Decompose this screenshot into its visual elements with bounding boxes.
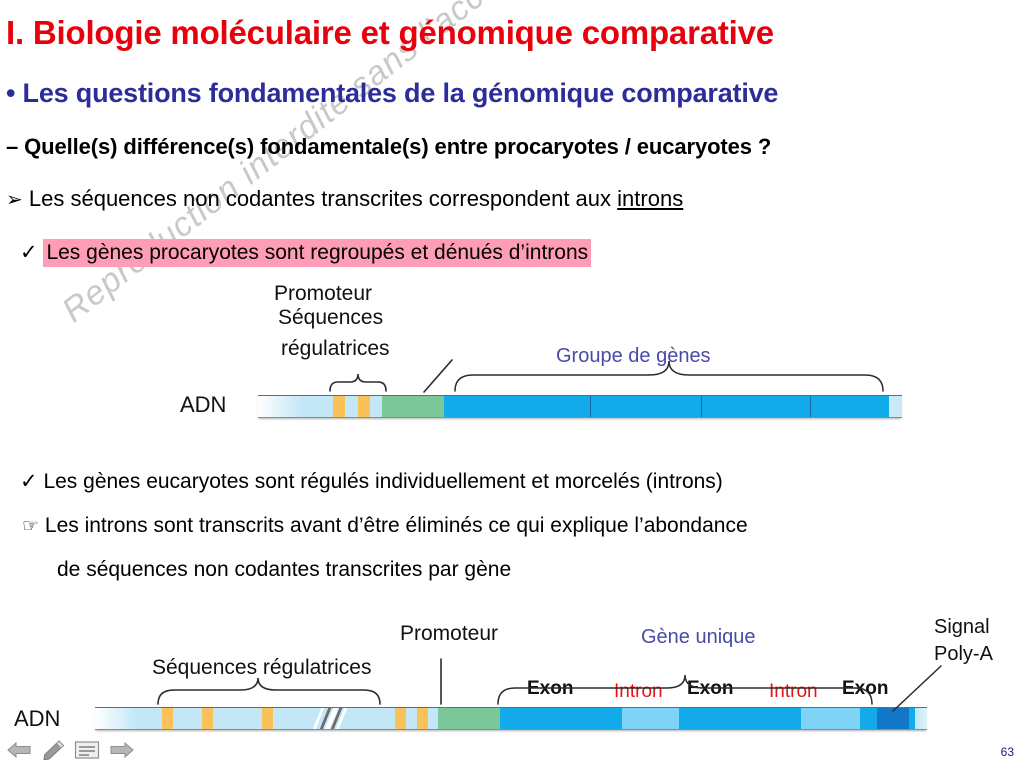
eukaryote-adn-label: ADN	[14, 706, 60, 732]
notes-icon[interactable]	[74, 740, 100, 760]
statement-intron-transcription-text: Les introns sont transcrits avant d’être…	[45, 514, 748, 537]
arrow-bullet-icon: ➢	[6, 189, 23, 211]
statement-prokaryote-genes-text: Les gènes procaryotes sont regroupés et …	[43, 239, 591, 267]
prokaryote-annotation-lines	[0, 275, 1025, 400]
statement-intron-transcription-cont: de séquences non codantes transcrites pa…	[57, 558, 511, 582]
statement-prokaryote-genes: ✓ Les gènes procaryotes sont regroupés e…	[20, 240, 591, 265]
check-bullet-icon: ✓	[20, 241, 38, 264]
slide-title: I. Biologie moléculaire et génomique com…	[6, 14, 774, 52]
eukaryote-annotation-lines	[0, 612, 1025, 722]
statement-introns-text: Les séquences non codantes transcrites c…	[29, 186, 617, 211]
check-bullet-icon: ✓	[20, 470, 38, 493]
prokaryote-adn-label: ADN	[180, 392, 226, 418]
forward-arrow-icon[interactable]	[109, 741, 135, 759]
statement-introns-keyword: introns	[617, 186, 683, 211]
page-number: 63	[1001, 745, 1014, 759]
statement-introns: ➢ Les séquences non codantes transcrites…	[6, 186, 683, 212]
statement-eukaryote-genes-text: Les gènes eucaryotes sont régulés indivi…	[43, 470, 722, 493]
section-heading: • Les questions fondamentales de la géno…	[6, 78, 778, 109]
pointing-hand-icon: ☞	[22, 516, 39, 537]
statement-eukaryote-genes: ✓ Les gènes eucaryotes sont régulés indi…	[20, 469, 723, 494]
question-line: – Quelle(s) différence(s) fondamentale(s…	[6, 134, 771, 160]
slide-canvas: Reproduction interdite sans l’accord des…	[0, 0, 1025, 767]
navigation-toolbar[interactable]	[6, 740, 135, 760]
statement-intron-transcription: ☞ Les introns sont transcrits avant d’êt…	[22, 514, 748, 538]
back-arrow-icon[interactable]	[6, 741, 32, 759]
pen-icon[interactable]	[41, 740, 65, 760]
